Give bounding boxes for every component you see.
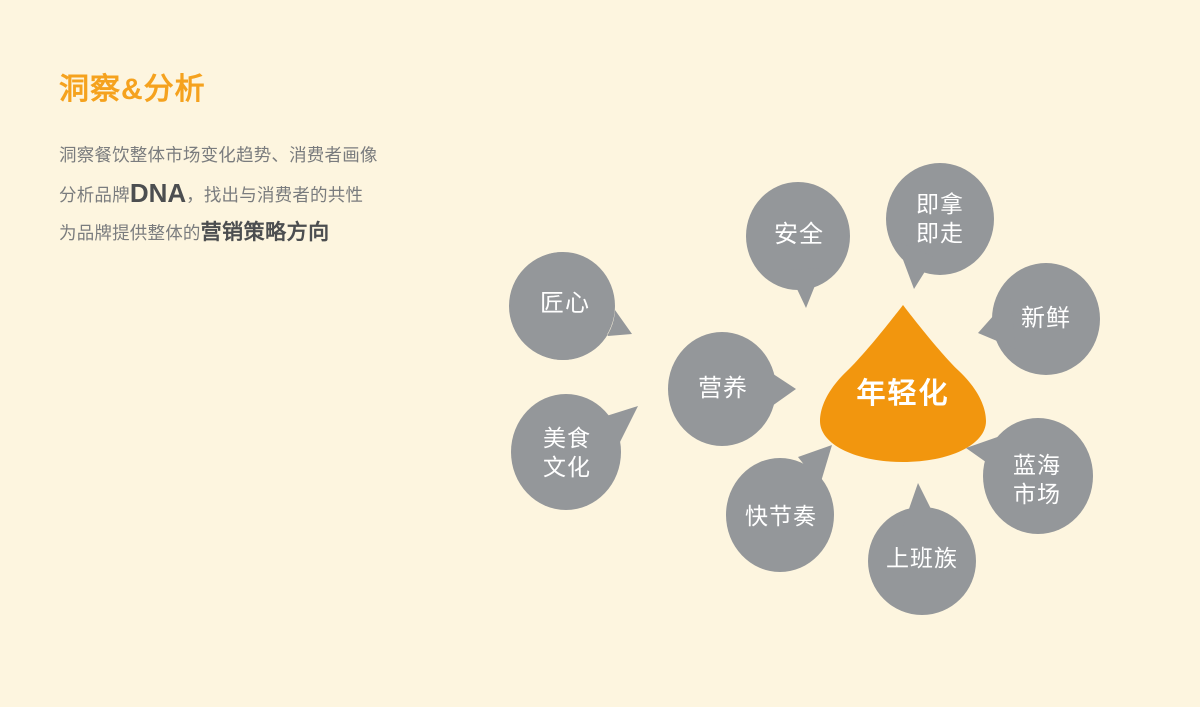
description-line-2-suffix: ，找出与消费者的共性	[186, 185, 363, 205]
slide-canvas: 洞察&分析 洞察餐饮整体市场变化趋势、消费者画像 分析品牌DNA，找出与消费者的…	[0, 0, 1200, 707]
bubble-label: 安全	[774, 221, 824, 249]
bubble-xinxian[interactable]: 新鲜	[978, 261, 1102, 381]
bubble-label: 蓝海 市场	[1013, 451, 1061, 509]
bubble-yingyang[interactable]: 营养	[666, 328, 796, 450]
description-line-3-emphasis: 营销策略方向	[201, 221, 330, 244]
bubble-label: 快节奏	[745, 503, 817, 530]
description-line-3: 为品牌提供整体的营销策略方向	[59, 214, 489, 252]
bubble-jiangxin[interactable]: 匠心	[508, 248, 634, 372]
description-line-1-text: 洞察餐饮整体市场变化趋势、消费者画像	[59, 145, 378, 165]
bubble-anquan[interactable]: 安全	[740, 182, 858, 308]
description-line-2-prefix: 分析品牌	[59, 185, 130, 205]
bubble-label: 匠心	[540, 290, 590, 318]
page-title: 洞察&分析	[59, 72, 489, 108]
bubble-label: 上班族	[886, 545, 958, 572]
bubble-core-nianqinghua[interactable]: 年轻化	[818, 305, 988, 463]
text-panel: 洞察&分析 洞察餐饮整体市场变化趋势、消费者画像 分析品牌DNA，找出与消费者的…	[59, 72, 489, 252]
bubble-label: 美食 文化	[543, 424, 591, 482]
description-line-2: 分析品牌DNA，找出与消费者的共性	[59, 174, 489, 214]
speech-bubble-cluster: 匠心 美食 文化 安全 营养	[500, 155, 1140, 625]
description-line-3-prefix: 为品牌提供整体的	[59, 223, 201, 243]
bubble-label: 营养	[698, 375, 748, 403]
bubble-label: 新鲜	[1021, 305, 1071, 333]
description-line-2-emphasis: DNA	[130, 178, 186, 208]
description-line-1: 洞察餐饮整体市场变化趋势、消费者画像	[59, 136, 489, 174]
bubble-label: 年轻化	[856, 377, 949, 411]
bubble-shangbanzu[interactable]: 上班族	[864, 483, 980, 615]
bubble-kuaijiezou[interactable]: 快节奏	[724, 445, 846, 573]
bubble-meishi-wenhua[interactable]: 美食 文化	[508, 384, 642, 514]
bubble-label: 即拿 即走	[916, 190, 964, 248]
